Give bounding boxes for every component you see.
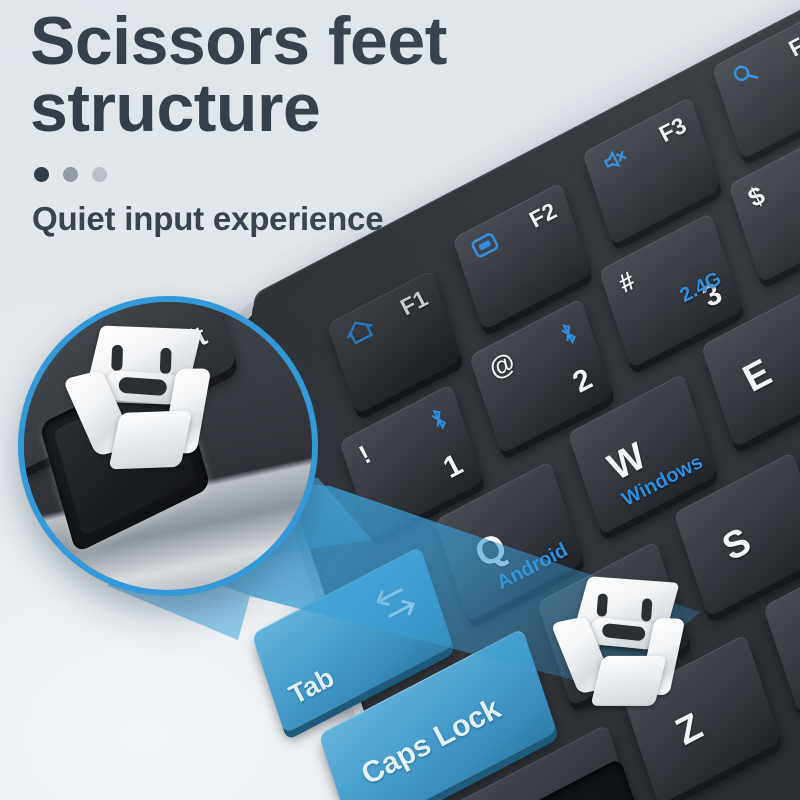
search-icon: [725, 57, 763, 92]
key-e-label: E: [737, 353, 777, 398]
key-1-shift-label: !: [355, 441, 375, 468]
key-2-shift-label: @: [484, 348, 518, 383]
dot-active[interactable]: [34, 167, 49, 182]
key-4-shift-label: $: [744, 182, 769, 212]
bluetooth-icon: [555, 319, 585, 354]
key-caps-lock-label: Caps Lock: [357, 694, 505, 791]
headline-block: Scissors feet structure Quiet input expe…: [30, 8, 670, 238]
magnifier-callout: Shift: [18, 296, 318, 596]
key-2-label: 2: [569, 364, 598, 398]
key-3-shift-label: #: [614, 267, 639, 297]
title-line-1: Scissors feet: [30, 3, 447, 79]
dot-2[interactable]: [63, 167, 78, 182]
title-line-2: structure: [30, 75, 670, 142]
dot-3[interactable]: [92, 167, 107, 182]
subtitle: Quiet input experience: [32, 200, 670, 238]
tab-arrows-icon: [360, 571, 435, 642]
product-marketing-image: F1 F2 F3 F4: [0, 0, 800, 800]
pagination-dots[interactable]: [34, 167, 670, 182]
home-icon: [341, 313, 379, 348]
key-f1-label: F1: [397, 287, 431, 320]
key-z-label: Z: [670, 707, 708, 751]
key-tab-label: Tab: [285, 664, 338, 709]
key-1-label: 1: [439, 450, 468, 484]
key-s-label: S: [717, 522, 757, 567]
scissor-mechanism: [65, 321, 229, 476]
key-f4-label: F4: [785, 28, 800, 61]
page-title: Scissors feet structure: [30, 8, 670, 141]
scissor-mechanism-on-keyboard: [556, 576, 696, 711]
magnifier-content: Shift: [18, 296, 318, 596]
bluetooth-icon: [425, 405, 455, 440]
